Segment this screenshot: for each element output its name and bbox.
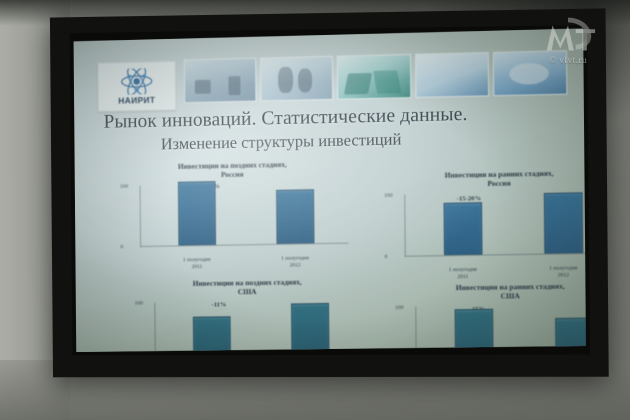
y-axis (154, 302, 156, 352)
y-axis (404, 195, 406, 257)
chart-plot-area: 100 0 -11% 1 полугодие 2011 (129, 297, 368, 352)
watermark-credit: © vlvt.ru (549, 56, 587, 66)
bar-2011 (192, 316, 230, 352)
chart-title: Инвестиции на поздних стадиях, США (129, 276, 367, 297)
bar-2012 (276, 189, 314, 244)
x-label-2012: 1 полугодие 2012 (264, 255, 326, 269)
mtt-logo-icon (539, 15, 597, 55)
chart-plot-area: 100 0 -15% 1 полугодие 2011 (389, 302, 586, 352)
y-axis (415, 307, 417, 352)
x-label-period: 1 полугодие (183, 257, 211, 263)
chart-late-stage-russia: Инвестиции на поздних стадиях, Россия 10… (114, 158, 353, 270)
photo-strip (184, 50, 568, 103)
bar-group (162, 300, 359, 352)
chart-plot-area: 100 0 -10% 1 полугодие 2011 (114, 180, 353, 260)
screenshot-stage: НАИРИТ (0, 0, 630, 420)
x-label-2012: 1 полугодие 2012 (532, 265, 586, 279)
x-label-2011: 1 полугодие 2011 (166, 257, 227, 271)
bar-2012 (291, 303, 329, 352)
nairit-logo: НАИРИТ (97, 61, 176, 112)
chart-early-stage-usa: Инвестиции на ранних стадиях, США 100 0 … (389, 281, 586, 352)
y-tick-min: 0 (120, 244, 123, 250)
y-tick-min: 0 (385, 254, 388, 260)
atom-icon (120, 68, 154, 95)
photo-solar-panels (337, 54, 411, 100)
presentation-slide: НАИРИТ (74, 29, 586, 352)
y-tick-max: 100 (395, 305, 403, 311)
x-label-period: 1 полугодие (449, 267, 477, 273)
x-label-period: 1 полугодие (549, 265, 578, 271)
bar-2011 (454, 309, 493, 352)
x-label-year: 2011 (432, 273, 495, 280)
photo-sky (415, 52, 489, 98)
x-label-year: 2012 (532, 272, 586, 279)
bar-2012 (555, 318, 586, 352)
x-label-2011: 1 полугодие 2011 (432, 267, 495, 281)
y-tick-max: 100 (384, 193, 392, 199)
y-tick-max: 100 (120, 184, 128, 190)
bar-group (423, 304, 586, 352)
chart-title: Инвестиции на поздних стадиях, Россия (114, 158, 352, 181)
chart-title: Инвестиции на ранних стадиях, США (389, 281, 586, 303)
x-label-period: 1 полугодие (281, 255, 309, 261)
chart-plot-area: 100 0 -15-20% 1 полугодие 2011 (378, 189, 586, 270)
bar-2012 (543, 192, 582, 253)
photo-people-office (260, 56, 333, 102)
x-axis-labels: 1 полугодие 2011 1 полугодие 2012 (148, 255, 345, 271)
projection-screen-surface: НАИРИТ (70, 25, 591, 356)
chart-early-stage-russia: Инвестиции на ранних стадиях, Россия 100… (378, 167, 586, 280)
photo-city (184, 58, 257, 103)
x-label-year: 2011 (166, 263, 227, 270)
x-axis-labels: 1 полугодие 2011 1 полугодие 2012 (413, 265, 586, 281)
video-watermark: © vlvt.ru (520, 6, 616, 74)
y-tick-max: 100 (135, 301, 143, 307)
chart-title: Инвестиции на ранних стадиях, Россия (378, 167, 586, 190)
chart-late-stage-usa: Инвестиции на поздних стадиях, США 100 0… (129, 276, 368, 352)
bar-2011 (443, 202, 482, 255)
y-axis (140, 186, 142, 248)
nairit-logo-label: НАИРИТ (118, 94, 155, 105)
charts-container: Инвестиции на поздних стадиях, Россия 10… (90, 154, 575, 346)
bar-2011 (177, 181, 215, 245)
bar-group (412, 191, 586, 256)
bar-group (147, 182, 344, 246)
x-label-year: 2012 (264, 262, 326, 269)
